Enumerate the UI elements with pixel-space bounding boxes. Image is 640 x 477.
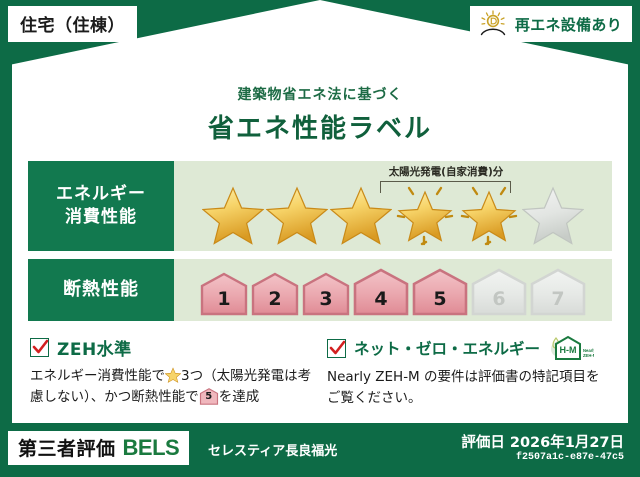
assessment-label-jp: 第三者評価 xyxy=(18,434,116,461)
criteria-zeh-description: エネルギー消費性能で3つ（太陽光発電は考慮しない）、かつ断熱性能で5を達成 xyxy=(30,366,313,408)
page-title: 省エネ性能ラベル xyxy=(12,108,628,145)
criteria-nze-title: ネット・ゼロ・エネルギー xyxy=(354,337,540,359)
criteria-zeh-title: ZEH水準 xyxy=(57,335,132,360)
zeh-text-part3: を達成 xyxy=(219,389,260,405)
grade-number: 7 xyxy=(530,288,586,310)
renewable-equipment-label: 再エネ設備あり xyxy=(515,14,622,35)
building-name: セレスティア長良福光 xyxy=(208,440,337,459)
criteria-zeh-header: ZEH水準 xyxy=(30,335,313,360)
inline-grade-number: 5 xyxy=(199,389,219,405)
criteria-net-zero-energy: ネット・ゼロ・エネルギー H-M Nearly ZEH-M Nearly ZEH… xyxy=(327,335,610,409)
star-2 xyxy=(266,179,328,245)
checkbox-checked-icon xyxy=(327,339,346,358)
insulation-grade-7: 7 xyxy=(530,268,586,316)
insulation-grade-2: 2 xyxy=(251,272,299,316)
insulation-grade-5: 5 xyxy=(412,268,468,316)
star-icon xyxy=(165,367,181,383)
insulation-grade-1: 1 xyxy=(200,272,248,316)
grade-number: 3 xyxy=(302,288,350,310)
insulation-grade-list: 1 2 3 xyxy=(200,268,586,316)
evaluation-date: 評価日 2026年1月27日 xyxy=(461,431,624,452)
energy-label-line1: エネルギー xyxy=(56,183,146,206)
grade-number: 2 xyxy=(251,288,299,310)
grade-number: 1 xyxy=(200,288,248,310)
solar-spark-marks xyxy=(394,179,456,249)
insulation-label: 断熱性能 xyxy=(63,278,139,302)
building-type-label: 住宅（住棟） xyxy=(20,16,125,36)
label-body: 建築物省エネ法に基づく 省エネ性能ラベル エネルギー 消費性能 太陽光発電(自家… xyxy=(12,78,628,423)
energy-performance-label: 住宅（住棟） 再エネ設備あり 建築物省エネ法に基づく 省エネ性能ラベル xyxy=(0,0,640,477)
insulation-grades-panel: 1 2 3 xyxy=(174,259,612,321)
title-block: 建築物省エネ法に基づく 省エネ性能ラベル xyxy=(12,78,628,145)
solar-generation-caption: 太陽光発電(自家消費)分 xyxy=(370,164,522,179)
insulation-performance-label-cell: 断熱性能 xyxy=(28,259,174,321)
grade-number: 4 xyxy=(353,288,409,310)
insulation-grade-4: 4 xyxy=(353,268,409,316)
zeh-text-part1: エネルギー消費性能で xyxy=(30,368,165,384)
star-3 xyxy=(330,179,392,245)
energy-label-line2: 消費性能 xyxy=(65,206,137,229)
checkbox-checked-icon xyxy=(30,338,49,357)
energy-performance-row: エネルギー 消費性能 太陽光発電(自家消費)分 xyxy=(28,161,612,251)
title-subtitle: 建築物省エネ法に基づく xyxy=(12,84,628,104)
nearly-zeh-m-logo: H-M Nearly ZEH-M xyxy=(550,335,594,361)
evaluation-id: f2507a1c-e87e-47c5 xyxy=(516,452,624,463)
star-4-solar xyxy=(394,179,456,245)
criteria-section: ZEH水準 エネルギー消費性能で3つ（太陽光発電は考慮しない）、かつ断熱性能で5… xyxy=(12,335,628,409)
insulation-grade-6: 6 xyxy=(471,268,527,316)
star-5-solar xyxy=(458,179,520,245)
solar-spark-marks xyxy=(458,179,520,249)
renewable-equipment-tag: 再エネ設備あり xyxy=(470,6,632,42)
grade-number: 6 xyxy=(471,288,527,310)
criteria-zeh-standard: ZEH水準 エネルギー消費性能で3つ（太陽光発電は考慮しない）、かつ断熱性能で5… xyxy=(30,335,313,409)
criteria-nze-description: Nearly ZEH-M の要件は評価書の特記項目をご覧ください。 xyxy=(327,367,610,409)
insulation-performance-row: 断熱性能 xyxy=(28,259,612,321)
insulation-grade-inline-icon: 5 xyxy=(199,388,219,405)
label-footer: 第三者評価 BELS セレスティア長良福光 評価日 2026年1月27日 f25… xyxy=(0,423,640,477)
sun-renewable-icon xyxy=(478,10,508,38)
energy-stars-panel: 太陽光発電(自家消費)分 xyxy=(174,161,612,251)
grade-number: 5 xyxy=(412,288,468,310)
star-1 xyxy=(202,179,264,245)
criteria-nze-header: ネット・ゼロ・エネルギー H-M Nearly ZEH-M xyxy=(327,335,610,361)
insulation-grade-3: 3 xyxy=(302,272,350,316)
svg-text:ZEH-M: ZEH-M xyxy=(583,353,594,358)
third-party-assessment-badge: 第三者評価 BELS xyxy=(8,431,189,465)
performance-rows: エネルギー 消費性能 太陽光発電(自家消費)分 xyxy=(12,161,628,321)
building-type-tag: 住宅（住棟） xyxy=(8,6,137,42)
star-6-empty xyxy=(522,179,584,245)
energy-performance-label-cell: エネルギー 消費性能 xyxy=(28,161,174,251)
svg-text:H-M: H-M xyxy=(560,345,577,355)
assessment-label-en: BELS xyxy=(123,435,180,461)
